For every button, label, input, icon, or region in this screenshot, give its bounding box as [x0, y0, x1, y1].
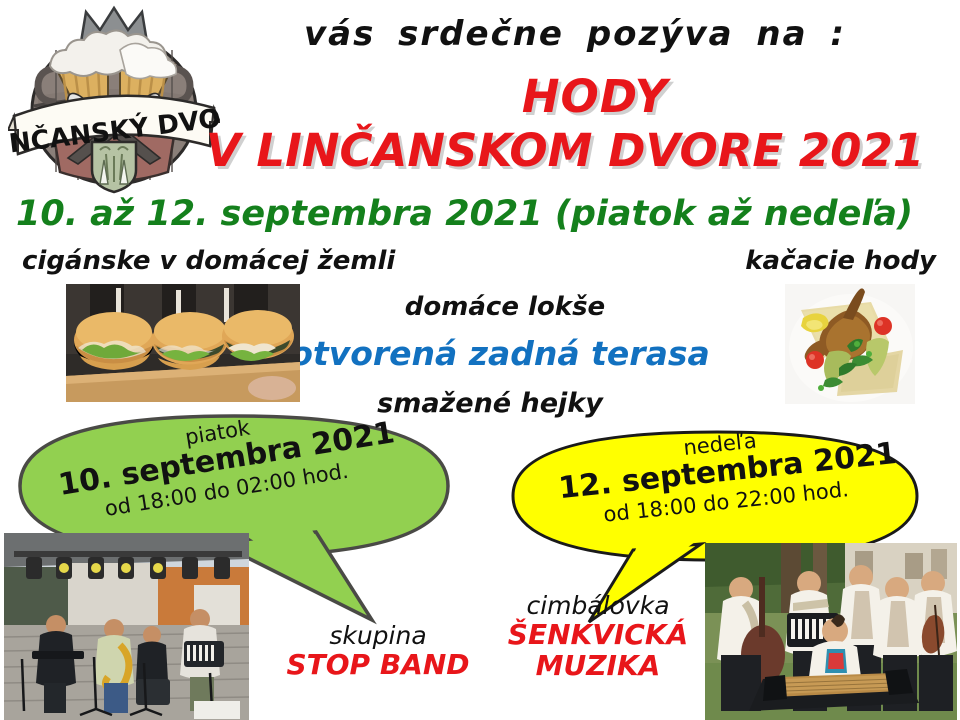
band-name-label: STOP BAND — [268, 649, 488, 680]
shield-icon — [92, 142, 136, 192]
photo-senkvicka-muzika — [705, 543, 957, 720]
title-line-2: V LINČANSKOM DVORE 2021 — [170, 124, 960, 177]
poster-root: LINČANSKÝ DVOR vás srdečne pozýva na : H… — [0, 0, 960, 720]
photo-cigánske-burgers — [66, 284, 300, 402]
menu-item-cigánske: cigánske v domácej žemli — [22, 246, 395, 276]
folk-kind-label: cimbálovka — [488, 592, 708, 619]
event-dates: 10. až 12. septembra 2021 (piatok až ned… — [16, 194, 946, 234]
photo-stop-band — [4, 533, 249, 720]
menu-item-kacacie: kačacie hody — [745, 246, 936, 276]
caption-senkvicka-muzika: cimbálovka ŠENKVICKÁ MUZIKA — [488, 592, 708, 682]
title-line-1: HODY — [250, 70, 940, 123]
invitation-line: vás srdečne pozýva na : — [250, 14, 900, 54]
folk-name-line-2: MUZIKA — [488, 650, 708, 681]
photo-kacacie-duck — [785, 284, 915, 404]
folk-name-line-1: ŠENKVICKÁ — [488, 619, 708, 650]
caption-stop-band: skupina STOP BAND — [268, 622, 488, 680]
band-kind-label: skupina — [268, 622, 488, 649]
